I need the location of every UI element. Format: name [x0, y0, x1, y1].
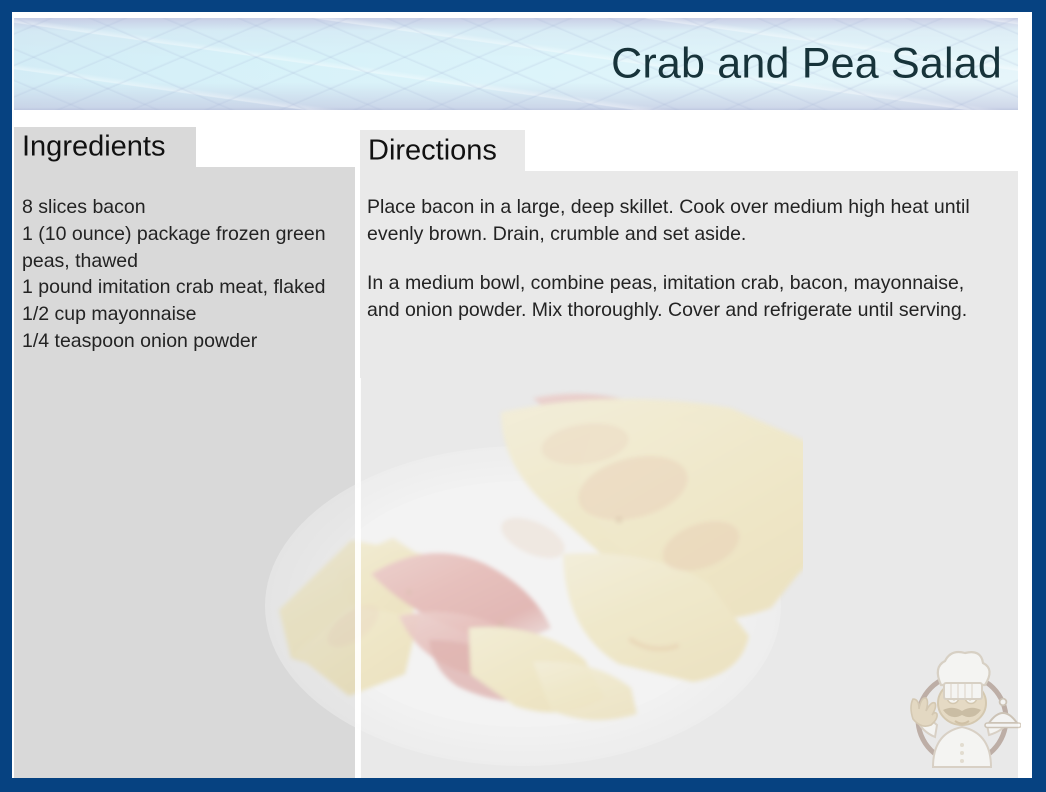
ingredients-heading-tab: Ingredients	[14, 127, 196, 167]
frame-border-right	[1032, 0, 1046, 792]
page-title: Crab and Pea Salad	[611, 43, 1002, 86]
ingredients-list: 8 slices bacon 1 (10 ounce) package froz…	[22, 194, 358, 355]
ingredients-heading: Ingredients	[22, 133, 166, 162]
ingredient-item: 1/2 cup mayonnaise	[22, 301, 358, 328]
recipe-slide: Crab and Pea Salad Ingredients 8 slices …	[0, 0, 1046, 792]
directions-heading: Directions	[368, 136, 497, 165]
ingredient-item: 1 pound imitation crab meat, flaked	[22, 274, 358, 301]
directions-paragraph: Place bacon in a large, deep skillet. Co…	[367, 194, 999, 247]
ingredient-item: 8 slices bacon	[22, 194, 358, 221]
chef-with-cloche-logo	[903, 641, 1021, 769]
ingredient-item: 1/4 teaspoon onion powder	[22, 328, 358, 355]
directions-heading-tab: Directions	[360, 130, 525, 171]
directions-paragraph: In a medium bowl, combine peas, imitatio…	[367, 270, 999, 323]
frame-border-bottom	[0, 778, 1046, 792]
ingredient-item: 1 (10 ounce) package frozen green peas, …	[22, 221, 358, 275]
frame-border-top	[0, 0, 1046, 12]
directions-body-text: Place bacon in a large, deep skillet. Co…	[367, 194, 999, 323]
title-banner: Crab and Pea Salad	[14, 18, 1018, 110]
frame-border-left	[0, 0, 12, 792]
